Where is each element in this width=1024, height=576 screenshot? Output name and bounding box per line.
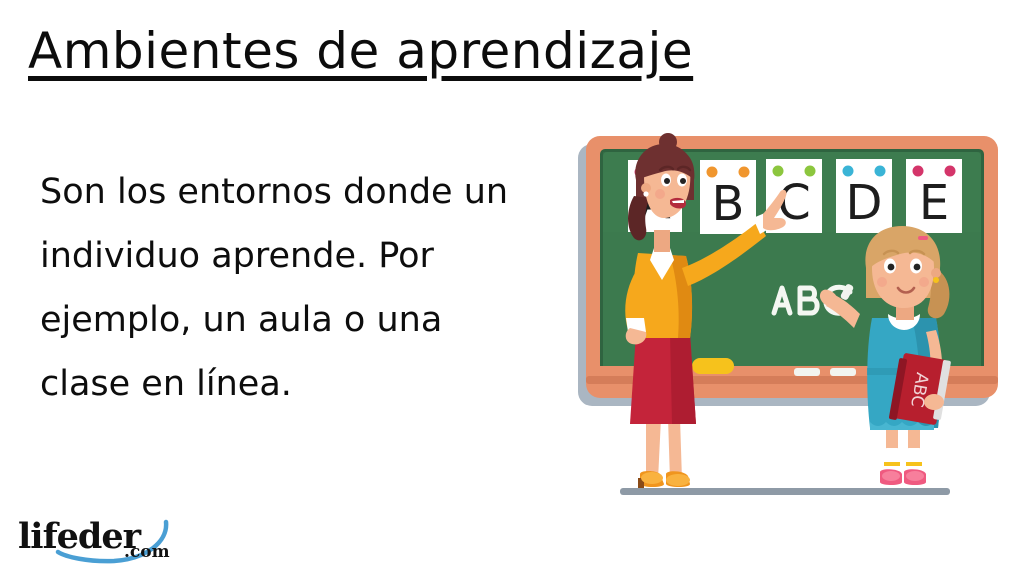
svg-text:B: B (712, 176, 745, 232)
chalk-piece-icon (794, 368, 820, 376)
hair-clip-icon (918, 236, 928, 240)
page-title: Ambientes de aprendizaje (28, 22, 788, 80)
logo-wordmark: lifeder (18, 516, 140, 557)
alphabet-card-d: D (836, 159, 892, 233)
alphabet-card-b: B (700, 160, 756, 234)
logo-tld: .com (124, 542, 170, 562)
svg-text:D: D (846, 175, 883, 231)
earring-icon (933, 277, 939, 283)
body-paragraph: Son los entornos donde un individuo apre… (40, 160, 540, 416)
slide-canvas: Ambientes de aprendizaje Son los entorno… (0, 0, 1024, 576)
floor-line (620, 488, 950, 495)
eraser-icon (692, 358, 734, 374)
svg-text:E: E (919, 175, 949, 231)
chalk-piece-icon (830, 368, 856, 376)
alphabet-card-e: E (906, 159, 962, 233)
classroom-illustration: A B C D (560, 118, 1024, 518)
lifeder-logo[interactable]: lifeder .com (18, 512, 188, 568)
